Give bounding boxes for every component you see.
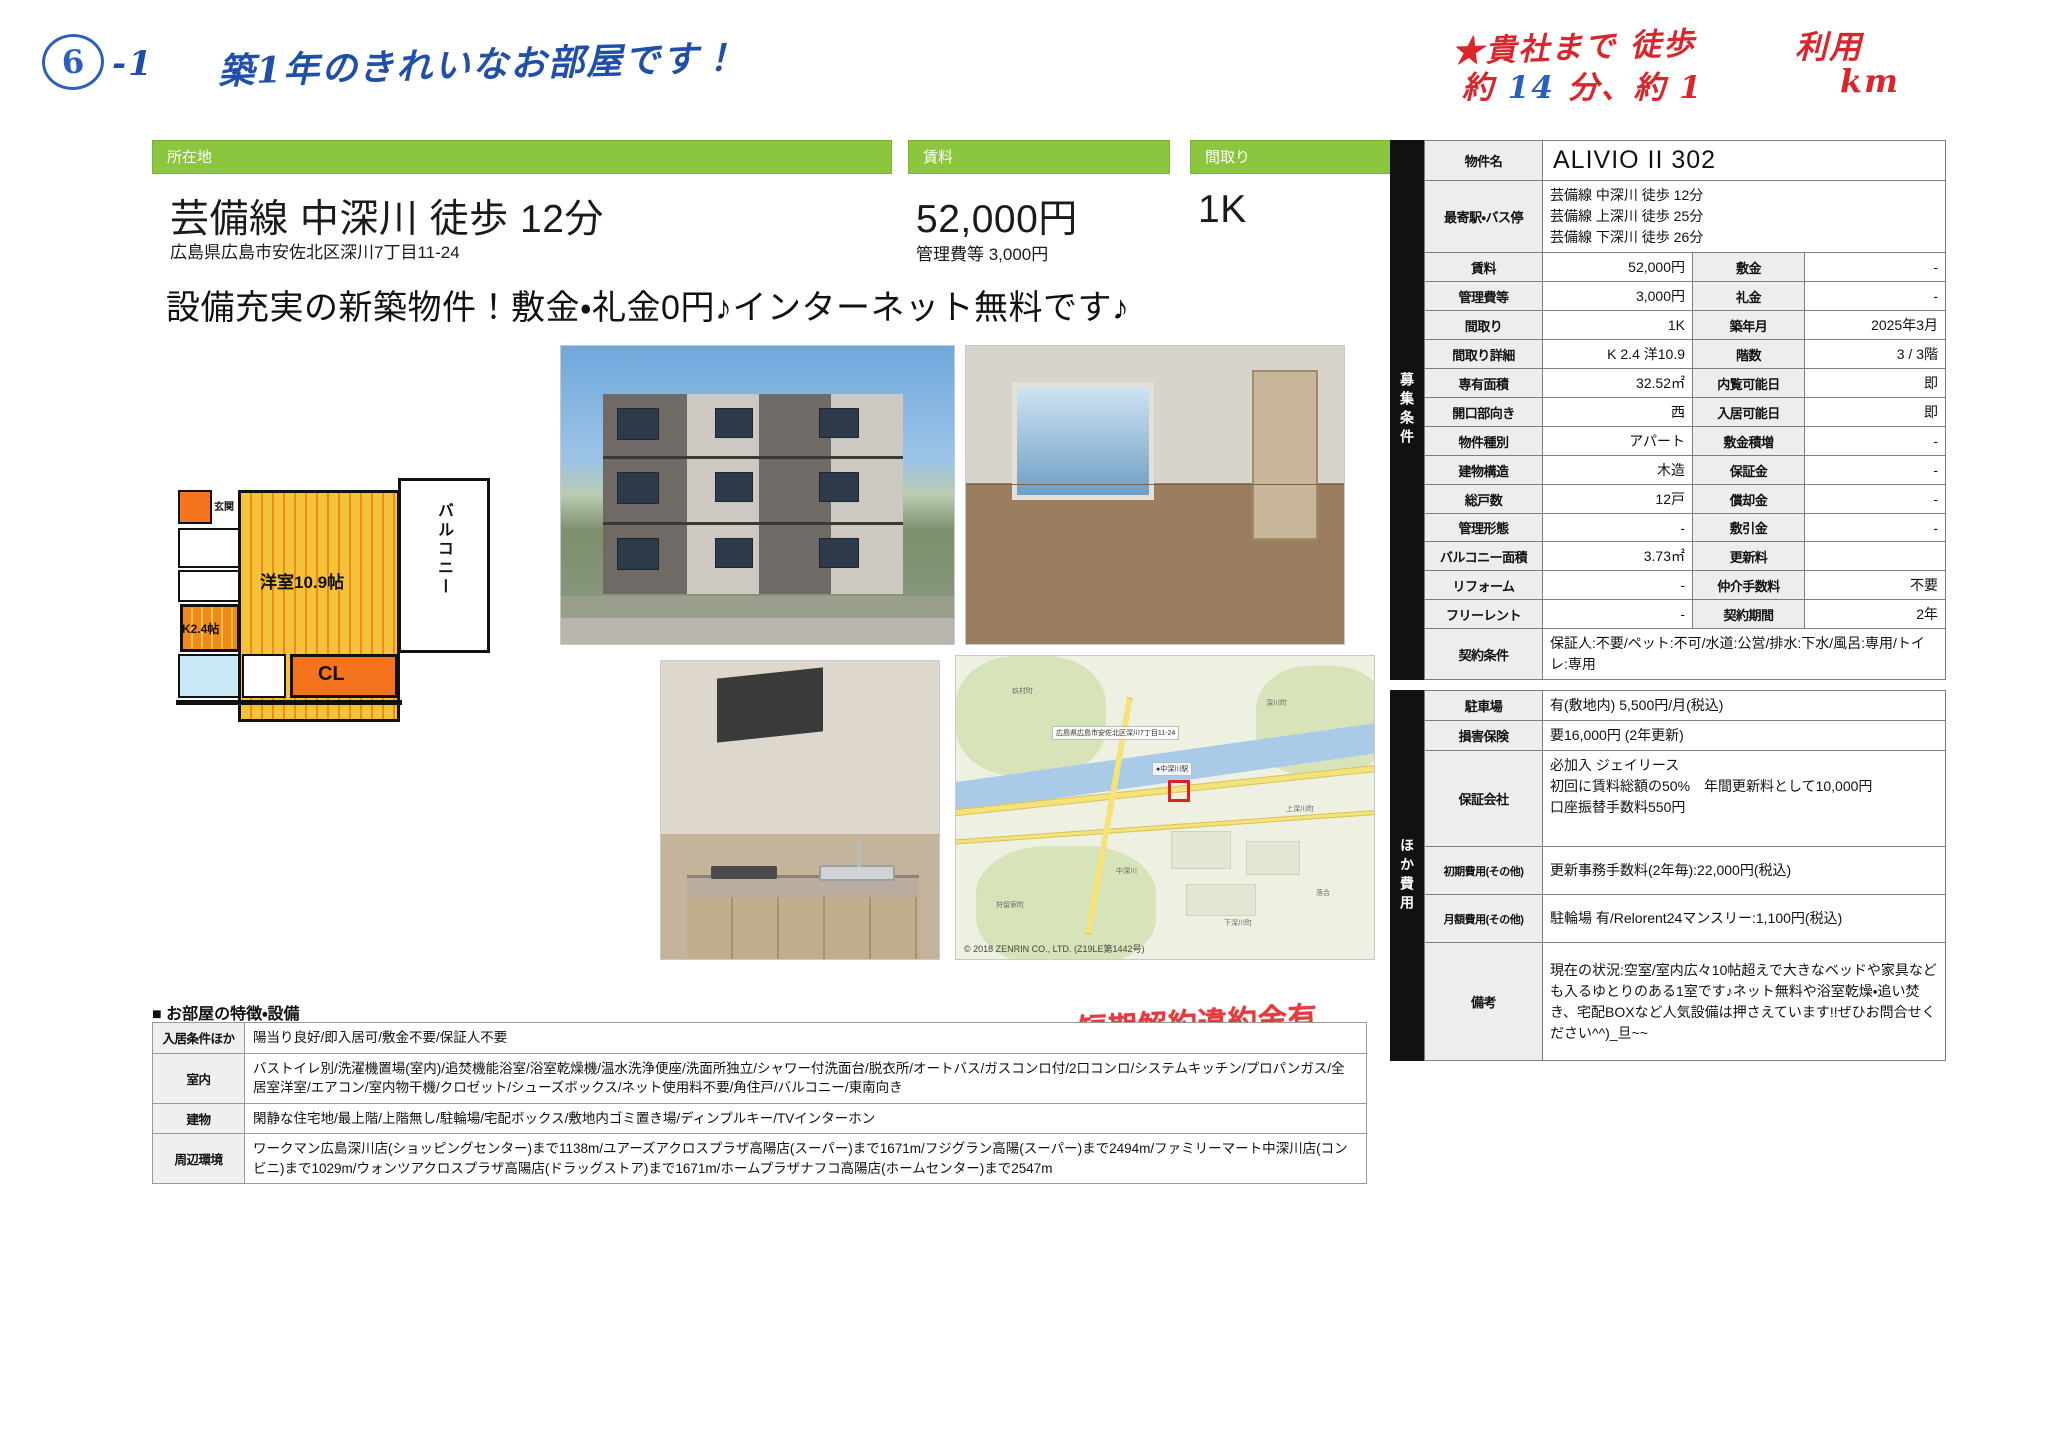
detail-value: - [1805, 253, 1946, 282]
features-row-value: バストイレ別/洗濯機置場(室内)/追焚機能浴室/浴室乾燥機/温水洗浄便座/洗面所… [245, 1053, 1367, 1103]
floorplan-entrance [178, 490, 212, 524]
detail-key: 契約期間 [1693, 600, 1805, 629]
detail-key: 償却金 [1693, 485, 1805, 514]
detail-key: 更新料 [1693, 542, 1805, 571]
table-row: 専有面積 32.52㎡ 内覧可能日 即 [1425, 369, 1946, 398]
map-label-6: 落合 [1316, 888, 1330, 898]
detail-key: リフォーム [1425, 571, 1543, 600]
table-row: 賃料 52,000円 敷金 - [1425, 253, 1946, 282]
detail-value: 3.73㎡ [1543, 542, 1693, 571]
detail-value: - [1543, 600, 1693, 629]
detail-key: 専有面積 [1425, 369, 1543, 398]
features-row-value: ワークマン広島深川店(ショッピングセンター)まで1138m/ユアーズアクロスプラ… [245, 1134, 1367, 1184]
kitchen-stove [711, 866, 777, 879]
property-name-value: ALIVIO II 302 [1543, 141, 1946, 181]
other-cost-key: 損害保険 [1425, 721, 1543, 751]
detail-key: 入居可能日 [1693, 398, 1805, 427]
kitchen-cabinets [687, 897, 919, 959]
table-row: フリーレント - 契約期間 2年 [1425, 600, 1946, 629]
other-cost-value: 有(敷地内) 5,500円/月(税込) [1543, 691, 1946, 721]
table-row: 最寄駅・バス停 芸備線 中深川 徒歩 12分 芸備線 上深川 徒歩 25分 芸備… [1425, 181, 1946, 253]
handwritten-circle-number: 6 [40, 32, 106, 92]
table-row: 間取り 1K 築年月 2025年3月 [1425, 311, 1946, 340]
features-table: 入居条件ほか 陽当り良好/即入居可/敷金不要/保証人不要 室内 バストイレ別/洗… [152, 1022, 1367, 1184]
floorplan-closet-label: CL [318, 663, 345, 686]
detail-key: 間取り詳細 [1425, 340, 1543, 369]
handwritten-minutes: 14 [1508, 70, 1555, 106]
floorplan-bath [178, 654, 240, 698]
detail-value: 12戸 [1543, 485, 1693, 514]
table-row: 総戸数 12戸 償却金 - [1425, 485, 1946, 514]
other-cost-key: 初期費用(その他) [1425, 847, 1543, 895]
detail-value: 西 [1543, 398, 1693, 427]
detail-value: 2025年3月 [1805, 311, 1946, 340]
features-row-key: 建物 [153, 1103, 245, 1134]
table-row: 間取り詳細 K 2.4 洋10.9 階数 3 / 3階 [1425, 340, 1946, 369]
property-name-key: 物件名 [1425, 141, 1543, 181]
table-row: 管理形態 - 敷引金 - [1425, 514, 1946, 542]
floorplan-kitchen-label: K2.4帖 [182, 620, 219, 637]
table-row: リフォーム - 仲介手数料 不要 [1425, 571, 1946, 600]
layout-value: 1K [1198, 188, 1247, 232]
detail-value: - [1805, 282, 1946, 311]
detail-value: 即 [1805, 398, 1946, 427]
floorplan-entrance-label: 玄関 [214, 498, 234, 513]
detail-value: 3 / 3階 [1805, 340, 1946, 369]
handwritten-distance-value: 1 [1680, 70, 1704, 106]
detail-value [1805, 542, 1946, 571]
floorplan-washroom [178, 528, 240, 568]
recruit-conditions-label: 募集条件 [1397, 372, 1417, 448]
detail-value: - [1805, 514, 1946, 542]
address-value: 芸備線 中深川 徒歩 12分 [170, 188, 604, 244]
detail-value: - [1805, 485, 1946, 514]
table-row: 損害保険 要16,000円 (2年更新) [1425, 721, 1946, 751]
detail-key: 間取り [1425, 311, 1543, 340]
table-row: 初期費用(その他) 更新事務手数料(2年毎):22,000円(税込) [1425, 847, 1946, 895]
features-row-key: 入居条件ほか [153, 1023, 245, 1054]
building-body [603, 394, 903, 594]
table-row: 保証会社 必加入 ジェイリース 初回に賃料総額の50% 年間更新料として10,0… [1425, 751, 1946, 847]
station-value: 芸備線 中深川 徒歩 12分 芸備線 上深川 徒歩 25分 芸備線 下深川 徒歩… [1543, 181, 1946, 253]
station-key: 最寄駅・バス停 [1425, 181, 1543, 253]
detail-value: 木造 [1543, 456, 1693, 485]
property-detail-panel: 募集条件 物件名 ALIVIO II 302 最寄駅・バス停 芸備線 中深川 徒… [1390, 140, 1946, 1071]
detail-key: 開口部向き [1425, 398, 1543, 427]
detail-key: 管理費等 [1425, 282, 1543, 311]
other-cost-key: 駐車場 [1425, 691, 1543, 721]
handwritten-distance-note: 約 14 分、約 1 [1462, 62, 1703, 107]
table-row: 周辺環境 ワークマン広島深川店(ショッピングセンター)まで1138m/ユアーズア… [153, 1134, 1367, 1184]
detail-value: 3,000円 [1543, 282, 1693, 311]
table-row: 入居条件ほか 陽当り良好/即入居可/敷金不要/保証人不要 [153, 1023, 1367, 1054]
remarks-key: 備考 [1425, 943, 1543, 1061]
recruit-conditions-sidebar: 募集条件 [1390, 140, 1424, 680]
detail-key: 築年月 [1693, 311, 1805, 340]
table-row: 管理費等 3,000円 礼金 - [1425, 282, 1946, 311]
remarks-value: 現在の状況:空室/室内広々10帖超えで大きなベッドや家具なども入るゆとりのある1… [1543, 943, 1946, 1061]
detail-value: K 2.4 洋10.9 [1543, 340, 1693, 369]
detail-key: 総戸数 [1425, 485, 1543, 514]
kitchen-sink [819, 865, 895, 881]
other-costs-label: ほか費用 [1397, 838, 1417, 914]
detail-key: 礼金 [1693, 282, 1805, 311]
location-map: ●中深川駅 広島県広島市安佐北区深川7丁目11-24 深川町 玖村町 上深川町 … [955, 655, 1375, 960]
map-location-pin [1168, 780, 1190, 802]
features-row-key: 室内 [153, 1053, 245, 1103]
features-row-value: 閑静な住宅地/最上階/上階無し/駐輪場/宅配ボックス/敷地内ゴミ置き場/ディンプ… [245, 1103, 1367, 1134]
features-row-key: 周辺環境 [153, 1134, 245, 1184]
detail-key: バルコニー面積 [1425, 542, 1543, 571]
contract-conditions-key: 契約条件 [1425, 629, 1543, 680]
detail-key: 階数 [1693, 340, 1805, 369]
handwritten-distance-unit: km [1840, 62, 1900, 100]
room-door [1252, 370, 1318, 540]
map-label-3: 下深川町 [1224, 918, 1252, 928]
table-row: 物件種別 アパート 敷金積増 - [1425, 427, 1946, 456]
detail-value: 52,000円 [1543, 253, 1693, 282]
floorplan-toilet [178, 570, 240, 602]
floorplan-vanity [242, 654, 286, 698]
detail-key: 建物構造 [1425, 456, 1543, 485]
detail-value: 2年 [1805, 600, 1946, 629]
room-window [1012, 382, 1154, 500]
detail-value: 即 [1805, 369, 1946, 398]
floorplan-balcony-label: バルコニー [431, 502, 455, 597]
detail-key: 敷引金 [1693, 514, 1805, 542]
detail-value: 1K [1543, 311, 1693, 340]
handwritten-headline-note: 築1年のきれいなお部屋です！ [217, 29, 738, 95]
map-label-2: 上深川町 [1286, 804, 1314, 814]
detail-key: 管理形態 [1425, 514, 1543, 542]
address-label: 所在地 [152, 140, 892, 174]
table-row: バルコニー面積 3.73㎡ 更新料 [1425, 542, 1946, 571]
table-row: 駐車場 有(敷地内) 5,500円/月(税込) [1425, 691, 1946, 721]
photo-kitchen [660, 660, 940, 960]
features-row-value: 陽当り良好/即入居可/敷金不要/保証人不要 [245, 1023, 1367, 1054]
floorplan-room-label: 洋室10.9帖 [260, 568, 344, 593]
detail-value: アパート [1543, 427, 1693, 456]
layout-label: 間取り [1190, 140, 1422, 174]
floorplan-diagram: バルコニー 洋室10.9帖 K2.4帖 玄関 CL [168, 478, 550, 803]
other-costs-sidebar: ほか費用 [1390, 690, 1424, 1061]
table-row: 備考 現在の状況:空室/室内広々10帖超えで大きなベッドや家具なども入るゆとりの… [1425, 943, 1946, 1061]
photo-exterior [560, 345, 955, 645]
features-title: ■ お部屋の特徴・設備 [152, 1000, 300, 1024]
table-row: 建物構造 木造 保証金 - [1425, 456, 1946, 485]
detail-key: 内覧可能日 [1693, 369, 1805, 398]
detail-key: 物件種別 [1425, 427, 1543, 456]
recruit-conditions-block: 募集条件 物件名 ALIVIO II 302 最寄駅・バス停 芸備線 中深川 徒… [1390, 140, 1946, 680]
photo-living-room [965, 345, 1345, 645]
other-cost-key: 保証会社 [1425, 751, 1543, 847]
map-label-1: 玖村町 [1012, 686, 1033, 696]
map-callout: 広島県広島市安佐北区深川7丁目11-24 [1052, 726, 1179, 740]
detail-value: - [1805, 456, 1946, 485]
kitchen-faucet [857, 841, 861, 867]
table-row: 開口部向き 西 入居可能日 即 [1425, 398, 1946, 427]
catch-copy: 設備充実の新築物件！敷金・礼金0円♪インターネット無料です♪ [166, 280, 1129, 329]
table-row: 室内 バストイレ別/洗濯機置場(室内)/追焚機能浴室/浴室乾燥機/温水洗浄便座/… [153, 1053, 1367, 1103]
table-row: 契約条件 保証人:不要/ペット:不可/水道:公営/排水:下水/風呂:専用/トイレ… [1425, 629, 1946, 680]
detail-value: 不要 [1805, 571, 1946, 600]
map-label-0: 深川町 [1266, 698, 1287, 708]
other-cost-value: 必加入 ジェイリース 初回に賃料総額の50% 年間更新料として10,000円 口… [1543, 751, 1946, 847]
address-sub: 広島県広島市安佐北区深川7丁目11-24 [170, 238, 460, 263]
rent-value: 52,000円 [916, 188, 1078, 244]
contract-conditions-value: 保証人:不要/ペット:不可/水道:公営/排水:下水/風呂:専用/トイレ:専用 [1543, 629, 1946, 680]
map-label-4: 狩留家町 [996, 900, 1024, 910]
detail-value: 32.52㎡ [1543, 369, 1693, 398]
other-cost-value: 更新事務手数料(2年毎):22,000円(税込) [1543, 847, 1946, 895]
table-row: 建物 閑静な住宅地/最上階/上階無し/駐輪場/宅配ボックス/敷地内ゴミ置き場/デ… [153, 1103, 1367, 1134]
detail-value: - [1543, 571, 1693, 600]
floorplan-wall [176, 700, 402, 705]
other-cost-value: 駐輪場 有/Relorent24マンスリー:1,100円(税込) [1543, 895, 1946, 943]
detail-value: - [1543, 514, 1693, 542]
detail-key: 保証金 [1693, 456, 1805, 485]
management-fee: 管理費等 3,000円 [916, 240, 1048, 265]
table-row: 物件名 ALIVIO II 302 [1425, 141, 1946, 181]
map-credit: © 2018 ZENRIN CO., LTD. (Z19LE第1442号) [964, 942, 1145, 955]
handwritten-dash: -1 [112, 44, 154, 84]
listing-sheet: 6 -1 築1年のきれいなお部屋です！ ★貴社まで 徒歩 利用 約 14 分、約… [0, 0, 2056, 1455]
map-pin-label: ●中深川駅 [1152, 762, 1192, 776]
other-cost-key: 月額費用(その他) [1425, 895, 1543, 943]
detail-key: フリーレント [1425, 600, 1543, 629]
detail-key: 敷金 [1693, 253, 1805, 282]
other-cost-value: 要16,000円 (2年更新) [1543, 721, 1946, 751]
recruit-conditions-table: 物件名 ALIVIO II 302 最寄駅・バス停 芸備線 中深川 徒歩 12分… [1424, 140, 1946, 680]
kitchen-range-hood [717, 667, 823, 742]
detail-key: 仲介手数料 [1693, 571, 1805, 600]
other-costs-block: ほか費用 駐車場 有(敷地内) 5,500円/月(税込) 損害保険 要16,00… [1390, 690, 1946, 1061]
other-costs-table: 駐車場 有(敷地内) 5,500円/月(税込) 損害保険 要16,000円 (2… [1424, 690, 1946, 1061]
detail-key: 敷金積増 [1693, 427, 1805, 456]
detail-key: 賃料 [1425, 253, 1543, 282]
table-row: 月額費用(その他) 駐輪場 有/Relorent24マンスリー:1,100円(税… [1425, 895, 1946, 943]
photo-road [561, 618, 954, 644]
rent-label: 賃料 [908, 140, 1170, 174]
detail-value: - [1805, 427, 1946, 456]
map-label-5: 中深川 [1116, 866, 1137, 876]
